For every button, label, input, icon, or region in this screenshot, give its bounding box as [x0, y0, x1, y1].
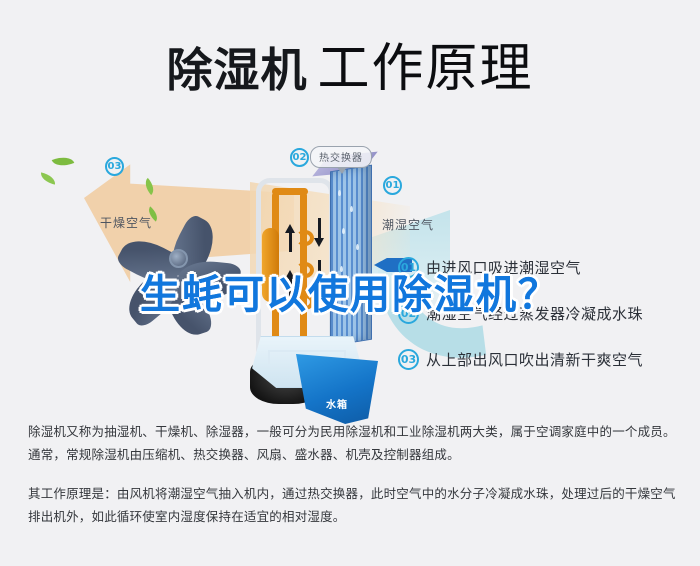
- diagram-marker-02: 02: [290, 148, 309, 167]
- water-droplet-icon: [350, 206, 353, 212]
- leaf-icon: [52, 153, 75, 171]
- water-droplet-icon: [356, 244, 359, 250]
- water-tank-label: 水箱: [326, 396, 348, 411]
- page-title-part1: 除湿机: [166, 43, 307, 97]
- diagram-marker-01: 01: [383, 176, 402, 195]
- list-item: 03 从上部出风口吹出清新干爽空气: [398, 344, 688, 375]
- coil-icon: [296, 230, 314, 246]
- page-title: 除湿机工作原理: [0, 26, 700, 101]
- arrow-up-icon: [285, 224, 295, 233]
- diagram-marker-03: 03: [105, 157, 124, 176]
- page-title-part2: 工作原理: [317, 39, 533, 99]
- arrow-down-icon: [314, 238, 324, 247]
- overlay-headline: 生蚝可以使用除湿机？: [0, 262, 700, 320]
- heat-exchanger-callout: 热交换器: [310, 146, 372, 168]
- legend-label: 从上部出风口吹出清新干爽空气: [426, 349, 643, 370]
- humid-air-label: 潮湿空气: [382, 216, 434, 233]
- water-droplet-icon: [342, 228, 345, 234]
- legend-number: 03: [398, 349, 419, 370]
- leaf-icon: [39, 172, 57, 184]
- infographic-page: 除湿机工作原理: [0, 0, 700, 566]
- body-paragraph-1: 除湿机又称为抽湿机、干燥机、除湿器，一般可分为民用除湿机和工业除湿机两大类，属于…: [28, 420, 676, 466]
- dry-air-label: 干燥空气: [100, 214, 152, 231]
- body-paragraph-2: 其工作原理是：由风机将潮湿空气抽入机内，通过热交换器，此时空气中的水分子冷凝成水…: [28, 482, 676, 528]
- water-tank: [296, 354, 378, 424]
- water-droplet-icon: [338, 190, 341, 196]
